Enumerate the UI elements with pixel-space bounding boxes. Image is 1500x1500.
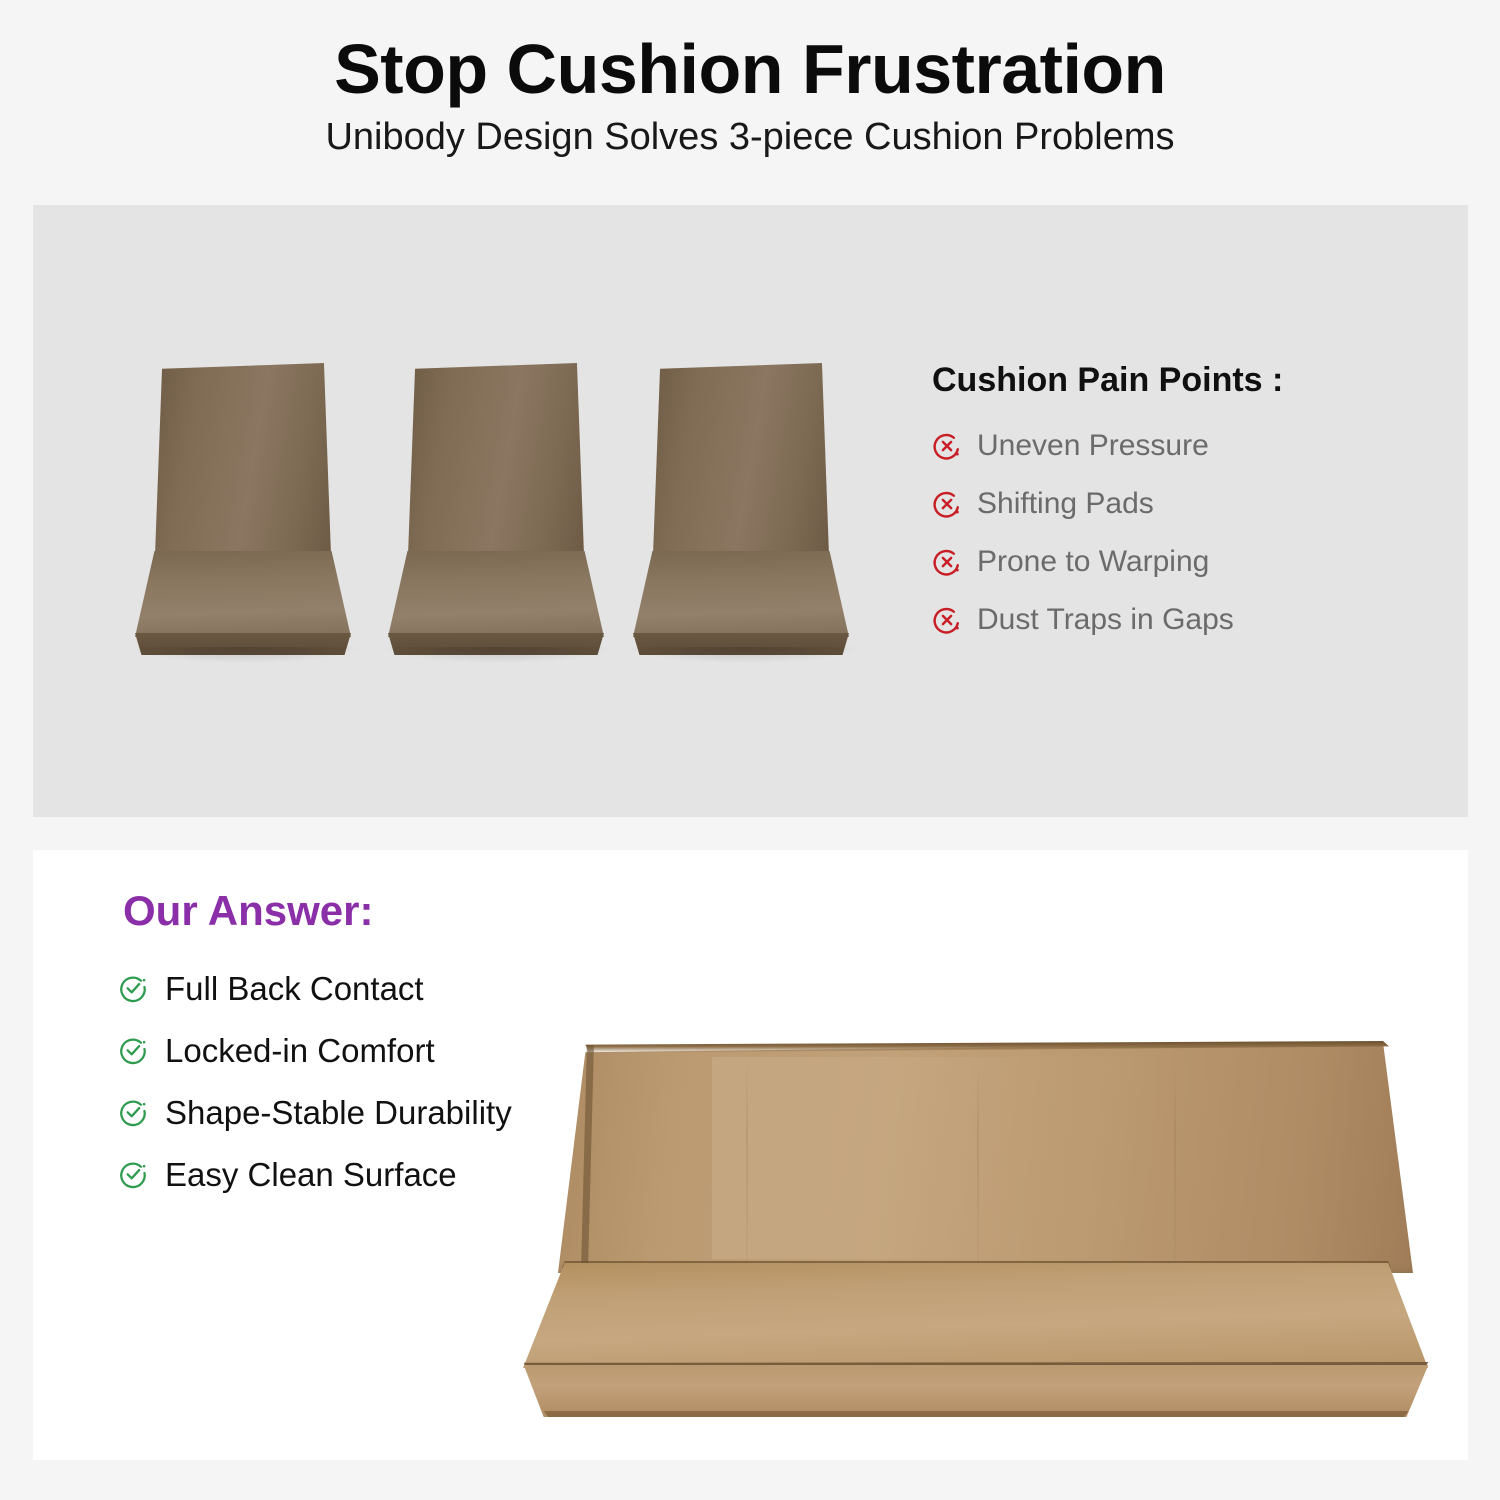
x-circle-icon bbox=[932, 431, 962, 461]
x-circle-icon bbox=[932, 547, 962, 577]
check-circle-icon bbox=[118, 1159, 148, 1189]
benefits-list: Full Back Contact Locked-in Comfort bbox=[118, 970, 512, 1218]
list-item-label: Uneven Pressure bbox=[977, 431, 1209, 461]
list-item: Prone to Warping bbox=[932, 545, 1412, 579]
pain-points-block: Cushion Pain Points : Uneven Pressure bbox=[932, 363, 1412, 661]
list-item: Uneven Pressure bbox=[932, 429, 1412, 463]
unibody-seat bbox=[523, 1263, 1428, 1368]
cushion-shadow bbox=[384, 647, 612, 663]
x-circle-icon bbox=[932, 605, 962, 635]
cushion-piece bbox=[388, 363, 604, 653]
cushion-piece bbox=[633, 363, 849, 653]
list-item: Shape-Stable Durability bbox=[118, 1094, 512, 1130]
cushion-backrest bbox=[155, 363, 331, 555]
fabric-sheen bbox=[712, 1057, 1157, 1259]
list-item-label: Full Back Contact bbox=[165, 972, 424, 1005]
unibody-backrest bbox=[558, 1043, 1413, 1273]
fabric-fold bbox=[746, 1061, 748, 1269]
cushion-shadow bbox=[131, 647, 359, 663]
cushion-shadow bbox=[629, 647, 857, 663]
list-item-label: Dust Traps in Gaps bbox=[977, 605, 1234, 635]
seat-front-face bbox=[520, 1365, 1432, 1417]
list-item: Dust Traps in Gaps bbox=[932, 603, 1412, 637]
fabric-fold bbox=[1174, 1061, 1176, 1269]
unibody-cushion-illustration bbox=[488, 1035, 1428, 1415]
answer-panel: Our Answer: Full Back Contact Locked- bbox=[33, 850, 1468, 1460]
list-item-label: Shape-Stable Durability bbox=[165, 1096, 512, 1129]
page-subtitle: Unibody Design Solves 3-piece Cushion Pr… bbox=[0, 118, 1500, 156]
fabric-fold bbox=[977, 1061, 979, 1269]
x-circle-icon bbox=[932, 489, 962, 519]
pain-points-heading: Cushion Pain Points : bbox=[932, 363, 1412, 397]
list-item: Easy Clean Surface bbox=[118, 1156, 512, 1192]
list-item: Locked-in Comfort bbox=[118, 1032, 512, 1068]
list-item-label: Easy Clean Surface bbox=[165, 1158, 457, 1191]
list-item: Full Back Contact bbox=[118, 970, 512, 1006]
list-item-label: Shifting Pads bbox=[977, 489, 1154, 519]
check-circle-icon bbox=[118, 1097, 148, 1127]
three-piece-cushion-illustration bbox=[33, 205, 933, 817]
header: Stop Cushion Frustration Unibody Design … bbox=[0, 0, 1500, 205]
cushion-seat bbox=[633, 551, 849, 637]
page-title: Stop Cushion Frustration bbox=[0, 34, 1500, 104]
check-circle-icon bbox=[118, 973, 148, 1003]
list-item-label: Prone to Warping bbox=[977, 547, 1209, 577]
cushion-backrest bbox=[408, 363, 584, 555]
list-item: Shifting Pads bbox=[932, 487, 1412, 521]
list-item-label: Locked-in Comfort bbox=[165, 1034, 435, 1067]
cushion-piece bbox=[135, 363, 351, 653]
cushion-seat bbox=[388, 551, 604, 637]
problem-panel: Cushion Pain Points : Uneven Pressure bbox=[33, 205, 1468, 817]
seat-bottom-edge bbox=[520, 1411, 1432, 1417]
cushion-seat bbox=[135, 551, 351, 637]
answer-heading: Our Answer: bbox=[123, 890, 373, 932]
cushion-backrest bbox=[653, 363, 829, 555]
check-circle-icon bbox=[118, 1035, 148, 1065]
pain-points-list: Uneven Pressure Shifting Pads bbox=[932, 429, 1412, 637]
